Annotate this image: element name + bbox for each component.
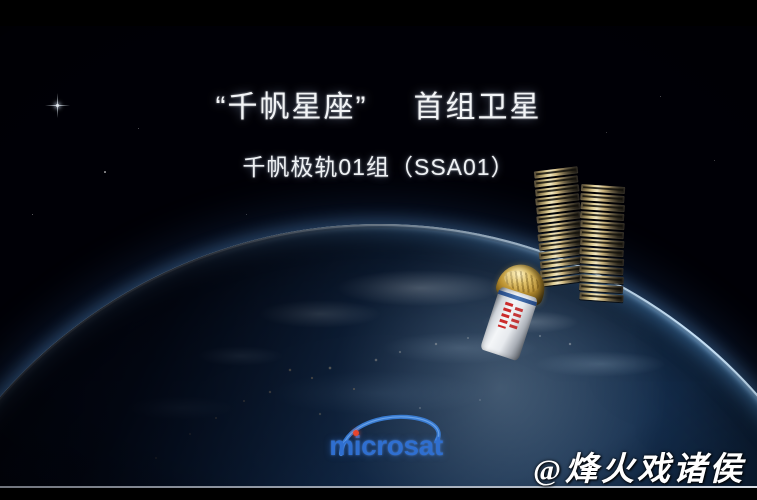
watermark-handle: 烽火戏诸侯 — [565, 454, 745, 487]
logo-red-dot-icon — [353, 430, 359, 436]
watermark-at-symbol: @ — [533, 456, 561, 486]
letterbox-bar-bottom — [0, 488, 757, 500]
video-frame: “千帆星座”首组卫星 千帆极轨01组（SSA01） microsat @烽火戏诸… — [0, 0, 757, 500]
satellite-stack-right — [573, 184, 641, 310]
watermark: @烽火戏诸侯 — [533, 454, 745, 487]
microsat-logo: microsat — [311, 412, 461, 468]
title-constellation-name: “千帆星座” — [216, 91, 368, 124]
satellite-panel — [579, 292, 623, 302]
title-block: “千帆星座”首组卫星 千帆极轨01组（SSA01） — [0, 82, 757, 182]
page-title: “千帆星座”首组卫星 — [0, 82, 757, 126]
subtitle: 千帆极轨01组（SSA01） — [0, 148, 757, 182]
letterbox-bar-top — [0, 0, 757, 26]
microsat-wordmark: microsat — [311, 432, 461, 460]
title-suffix: 首组卫星 — [413, 91, 541, 124]
